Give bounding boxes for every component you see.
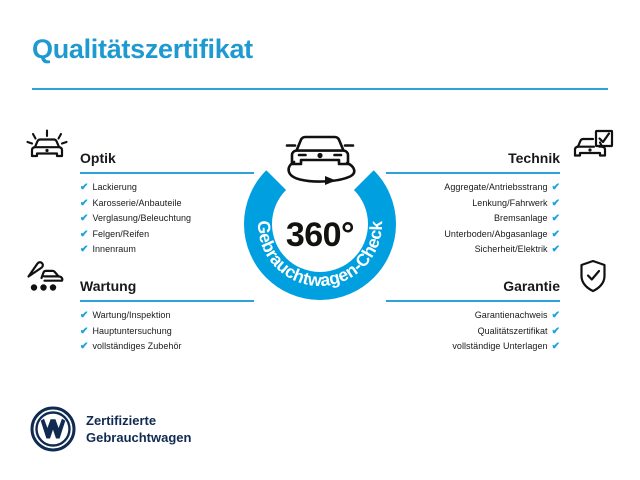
list-item-label: vollständige Unterlagen bbox=[452, 341, 547, 351]
section-header-wartung: Wartung bbox=[24, 256, 254, 302]
badge-degrees: 360° bbox=[238, 216, 402, 255]
list-item: Qualitätszertifikat✔ bbox=[386, 324, 560, 340]
section-divider-wartung bbox=[80, 300, 254, 302]
list-item-label: Verglasung/Beleuchtung bbox=[92, 213, 191, 223]
list-item-label: Lackierung bbox=[92, 182, 137, 192]
section-title-garantie: Garantie bbox=[503, 278, 560, 294]
section-header-garantie: Garantie bbox=[386, 256, 616, 302]
list-item-label: Garantienachweis bbox=[475, 310, 548, 320]
list-item-label: Innenraum bbox=[92, 244, 135, 254]
section-title-wartung: Wartung bbox=[80, 278, 136, 294]
list-item-label: Qualitätszertifikat bbox=[478, 326, 548, 336]
footer-line-2: Gebrauchtwagen bbox=[86, 429, 191, 446]
list-item: vollständige Unterlagen✔ bbox=[386, 339, 560, 355]
check-icon: ✔ bbox=[552, 181, 560, 196]
check-icon: ✔ bbox=[80, 340, 88, 355]
list-item-label: Aggregate/Antriebsstrang bbox=[444, 182, 547, 192]
list-item: ✔Verglasung/Beleuchtung bbox=[80, 211, 254, 227]
list-item: ✔Wartung/Inspektion bbox=[80, 308, 254, 324]
list-item: Lenkung/Fahrwerk✔ bbox=[386, 196, 560, 212]
section-divider-optik bbox=[80, 172, 254, 174]
section-header-optik: Optik bbox=[24, 128, 254, 174]
check-icon: ✔ bbox=[552, 228, 560, 243]
list-item-label: Bremsanlage bbox=[494, 213, 548, 223]
check-icon: ✔ bbox=[552, 309, 560, 324]
list-item: ✔Karosserie/Anbauteile bbox=[80, 196, 254, 212]
check-icon: ✔ bbox=[552, 340, 560, 355]
list-item-label: Karosserie/Anbauteile bbox=[92, 198, 181, 208]
checklist-garantie: Garantienachweis✔ Qualitätszertifikat✔ v… bbox=[386, 302, 616, 355]
check-icon: ✔ bbox=[552, 197, 560, 212]
list-item-label: Sicherheit/Elektrik bbox=[475, 244, 548, 254]
list-item-label: Hauptuntersuchung bbox=[92, 326, 171, 336]
section-optik: Optik ✔Lackierung ✔Karosserie/Anbauteile… bbox=[24, 128, 254, 258]
check-icon: ✔ bbox=[80, 212, 88, 227]
list-item-label: vollständiges Zubehör bbox=[92, 341, 181, 351]
shield-check-icon bbox=[570, 256, 616, 296]
section-divider-technik bbox=[386, 172, 560, 174]
list-item: ✔Felgen/Reifen bbox=[80, 227, 254, 243]
list-item: ✔Hauptuntersuchung bbox=[80, 324, 254, 340]
list-item: Bremsanlage✔ bbox=[386, 211, 560, 227]
footer-line-1: Zertifizierte bbox=[86, 412, 191, 429]
list-item-label: Lenkung/Fahrwerk bbox=[472, 198, 547, 208]
section-garantie: Garantie Garantienachweis✔ Qualitätszert… bbox=[386, 256, 616, 355]
footer-logo: Zertifizierte Gebrauchtwagen bbox=[30, 404, 270, 456]
badge-360-check: Gebrauchtwagen-Check 3 bbox=[238, 120, 402, 306]
list-item: ✔Lackierung bbox=[80, 180, 254, 196]
volkswagen-logo bbox=[30, 406, 76, 452]
page-title: Qualitätszertifikat bbox=[32, 34, 253, 65]
list-item: Aggregate/Antriebsstrang✔ bbox=[386, 180, 560, 196]
car-checkbox-icon bbox=[570, 128, 616, 168]
checklist-optik: ✔Lackierung ✔Karosserie/Anbauteile ✔Verg… bbox=[24, 174, 254, 258]
wrench-car-icon bbox=[24, 256, 70, 296]
footer-brand-text: Zertifizierte Gebrauchtwagen bbox=[86, 412, 191, 446]
check-icon: ✔ bbox=[80, 181, 88, 196]
check-icon: ✔ bbox=[80, 228, 88, 243]
certificate-page: Qualitätszertifikat bbox=[0, 0, 640, 480]
check-icon: ✔ bbox=[80, 325, 88, 340]
car-shine-icon bbox=[24, 128, 70, 168]
check-icon: ✔ bbox=[80, 309, 88, 324]
list-item-label: Felgen/Reifen bbox=[92, 229, 149, 239]
section-divider-garantie bbox=[386, 300, 560, 302]
section-technik: Technik Aggregate/Antriebsstrang✔ Lenkun… bbox=[386, 128, 616, 258]
checklist-technik: Aggregate/Antriebsstrang✔ Lenkung/Fahrwe… bbox=[386, 174, 616, 258]
check-icon: ✔ bbox=[552, 325, 560, 340]
section-title-technik: Technik bbox=[508, 150, 560, 166]
list-item: Unterboden/Abgasanlage✔ bbox=[386, 227, 560, 243]
check-icon: ✔ bbox=[552, 212, 560, 227]
list-item: Garantienachweis✔ bbox=[386, 308, 560, 324]
list-item-label: Wartung/Inspektion bbox=[92, 310, 170, 320]
section-wartung: Wartung ✔Wartung/Inspektion ✔Hauptunters… bbox=[24, 256, 254, 355]
section-header-technik: Technik bbox=[386, 128, 616, 174]
list-item: ✔vollständiges Zubehör bbox=[80, 339, 254, 355]
checklist-wartung: ✔Wartung/Inspektion ✔Hauptuntersuchung ✔… bbox=[24, 302, 254, 355]
list-item-label: Unterboden/Abgasanlage bbox=[444, 229, 547, 239]
check-icon: ✔ bbox=[80, 197, 88, 212]
title-divider bbox=[32, 88, 608, 90]
section-title-optik: Optik bbox=[80, 150, 116, 166]
